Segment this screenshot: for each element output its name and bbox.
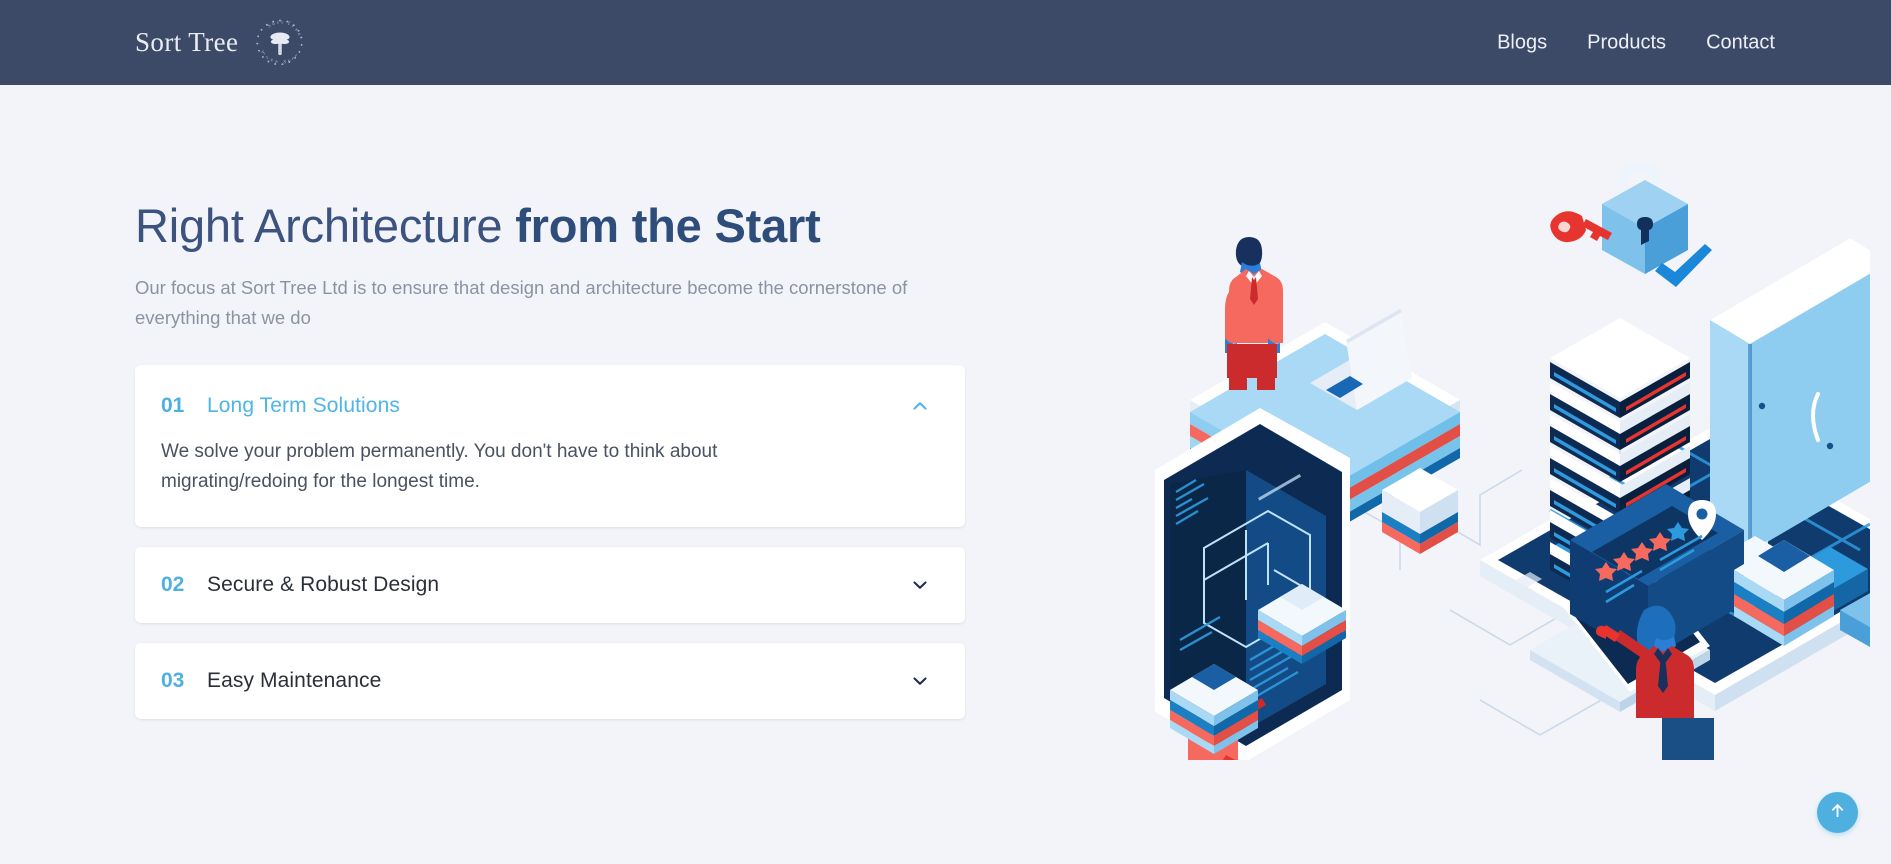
nav-item-products[interactable]: Products <box>1567 25 1686 60</box>
headline-light: Right Architecture <box>135 199 515 252</box>
layer-cube-small-2 <box>1170 664 1258 754</box>
accordion-item-03[interactable]: 03 Easy Maintenance <box>135 643 965 719</box>
accordion-title-02: Secure & Robust Design <box>207 573 909 597</box>
svg-text:e: e <box>275 58 279 64</box>
laptop-bottom-right <box>1530 562 1710 712</box>
main-nav: Blogs Products Contact <box>1477 25 1795 60</box>
chevron-down-icon[interactable] <box>909 574 931 596</box>
nav-item-blogs[interactable]: Blogs <box>1477 25 1567 60</box>
page-title: Right Architecture from the Start <box>135 200 965 253</box>
layer-cube-right <box>1734 540 1834 646</box>
nav-item-contact[interactable]: Contact <box>1686 25 1795 60</box>
tree-emblem-icon: S o r t T r e e T r e e S o r t <box>252 15 308 71</box>
tower-building <box>1550 318 1690 610</box>
features-accordion: 01 Long Term Solutions We solve your pro… <box>135 365 965 719</box>
accordion-header-02[interactable]: 02 Secure & Robust Design <box>135 547 965 623</box>
chevron-up-icon[interactable] <box>909 395 931 417</box>
accordion-title-01: Long Term Solutions <box>207 394 909 418</box>
figure-at-screen <box>1183 688 1266 760</box>
arrow-up-icon <box>1828 801 1847 825</box>
chevron-down-icon[interactable] <box>909 670 931 692</box>
accordion-title-03: Easy Maintenance <box>207 669 909 693</box>
svg-text:t: t <box>281 19 284 25</box>
accordion-item-02[interactable]: 02 Secure & Robust Design <box>135 547 965 623</box>
checkmark-icon <box>1655 244 1712 287</box>
accordion-body-01: We solve your problem permanently. You d… <box>135 421 825 527</box>
hero-content: Right Architecture from the Start Our fo… <box>135 200 965 739</box>
stair-block <box>1382 468 1458 554</box>
brand-logo[interactable]: Sort Tree S o <box>135 15 308 71</box>
accordion-number-01: 01 <box>161 394 189 418</box>
site-header: Sort Tree S o <box>0 0 1891 85</box>
hero-subhead: Our focus at Sort Tree Ltd is to ensure … <box>135 273 965 333</box>
blueprint-screen <box>1155 408 1350 760</box>
headline-bold: from the Start <box>515 199 820 252</box>
location-pin-icon <box>1688 500 1716 540</box>
svg-text:e: e <box>270 56 275 63</box>
accordion-item-01[interactable]: 01 Long Term Solutions We solve your pro… <box>135 365 965 527</box>
scroll-to-top-button[interactable] <box>1817 792 1858 833</box>
figure-coral-left <box>1225 237 1283 390</box>
city-map-tablet <box>1480 428 1870 711</box>
padlock-security-icon <box>1550 162 1712 287</box>
layer-slab-left <box>1190 322 1460 536</box>
review-card <box>1570 484 1744 660</box>
figure-woman-blue-hair <box>1596 606 1714 760</box>
accordion-number-03: 03 <box>161 669 189 693</box>
accordion-header-01[interactable]: 01 Long Term Solutions <box>135 365 965 421</box>
large-monitor <box>1695 238 1870 610</box>
svg-text:o: o <box>271 20 276 27</box>
laptop-on-slab <box>1310 309 1412 410</box>
accordion-header-03[interactable]: 03 Easy Maintenance <box>135 643 965 719</box>
accordion-number-02: 02 <box>161 573 189 597</box>
key-icon <box>1550 211 1612 242</box>
isometric-architecture-illustration <box>1150 140 1870 760</box>
svg-text:r: r <box>291 23 295 29</box>
brand-name: Sort Tree <box>135 27 238 58</box>
layer-cube-small-1 <box>1258 584 1346 664</box>
